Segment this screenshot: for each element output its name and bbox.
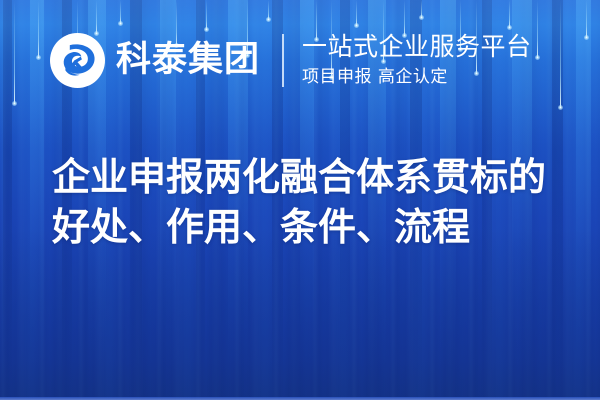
logo-lockup[interactable]: 科泰集团 bbox=[50, 33, 260, 88]
logo-brand-name: 科泰集团 bbox=[116, 43, 260, 78]
header-divider bbox=[282, 34, 284, 87]
ketai-group-logo-icon bbox=[50, 33, 105, 88]
promo-banner: 科泰集团 一站式企业服务平台 项目申报 高企认定 企业申报两化融合体系贯标的好处… bbox=[0, 0, 600, 400]
banner-header: 科泰集团 一站式企业服务平台 项目申报 高企认定 bbox=[0, 0, 600, 120]
header-tagline: 一站式企业服务平台 项目申报 高企认定 bbox=[302, 33, 532, 87]
banner-headline: 企业申报两化融合体系贯标的好处、作用、条件、流程 bbox=[52, 152, 557, 252]
tagline-secondary: 项目申报 高企认定 bbox=[302, 68, 532, 88]
tagline-primary: 一站式企业服务平台 bbox=[302, 33, 532, 62]
